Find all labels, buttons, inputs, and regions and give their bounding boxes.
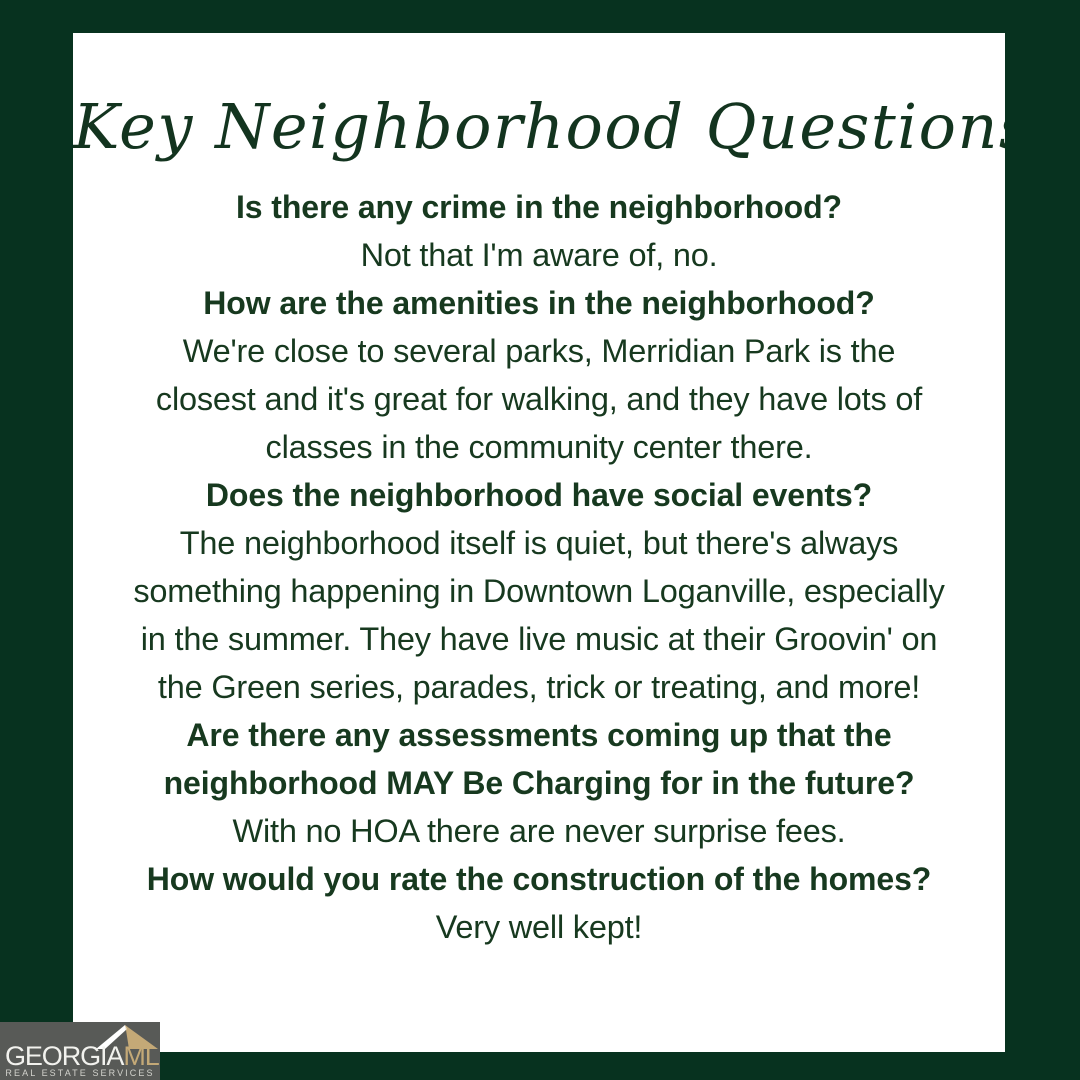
content-card: Key Neighborhood Questions Is there any … [73, 33, 1005, 1052]
qa-question-line: How are the amenities in the neighborhoo… [89, 279, 989, 327]
qa-answer-line: Not that I'm aware of, no. [89, 231, 989, 279]
poster-canvas: Key Neighborhood Questions Is there any … [0, 0, 1080, 1080]
georgia-mls-logo: GEORGIAMLS REAL ESTATE SERVICES [0, 1022, 160, 1080]
qa-answer-line: We're close to several parks, Merridian … [89, 327, 989, 375]
qa-answer-line: classes in the community center there. [89, 423, 989, 471]
qa-question-line: Does the neighborhood have social events… [89, 471, 989, 519]
qa-answer-line: closest and it's great for walking, and … [89, 375, 989, 423]
qa-question-line: Are there any assessments coming up that… [89, 711, 989, 759]
qa-question-line: Is there any crime in the neighborhood? [89, 183, 989, 231]
qa-answer-line: something happening in Downtown Loganvil… [89, 567, 989, 615]
logo-word-georgia: GEORGIA [5, 1041, 123, 1071]
qa-answer-line: The neighborhood itself is quiet, but th… [89, 519, 989, 567]
qa-question-line: neighborhood MAY Be Charging for in the … [89, 759, 989, 807]
qa-answer-line: the Green series, parades, trick or trea… [89, 663, 989, 711]
qa-list: Is there any crime in the neighborhood?N… [89, 183, 989, 951]
logo-tagline: REAL ESTATE SERVICES [0, 1068, 160, 1079]
qa-answer-line: With no HOA there are never surprise fee… [89, 807, 989, 855]
logo-wordmark: GEORGIAMLS [0, 1042, 160, 1070]
qa-answer-line: in the summer. They have live music at t… [89, 615, 989, 663]
logo-word-mls: MLS [123, 1041, 160, 1071]
qa-question-line: How would you rate the construction of t… [89, 855, 989, 903]
qa-answer-line: Very well kept! [89, 903, 989, 951]
page-title: Key Neighborhood Questions [73, 91, 1005, 163]
